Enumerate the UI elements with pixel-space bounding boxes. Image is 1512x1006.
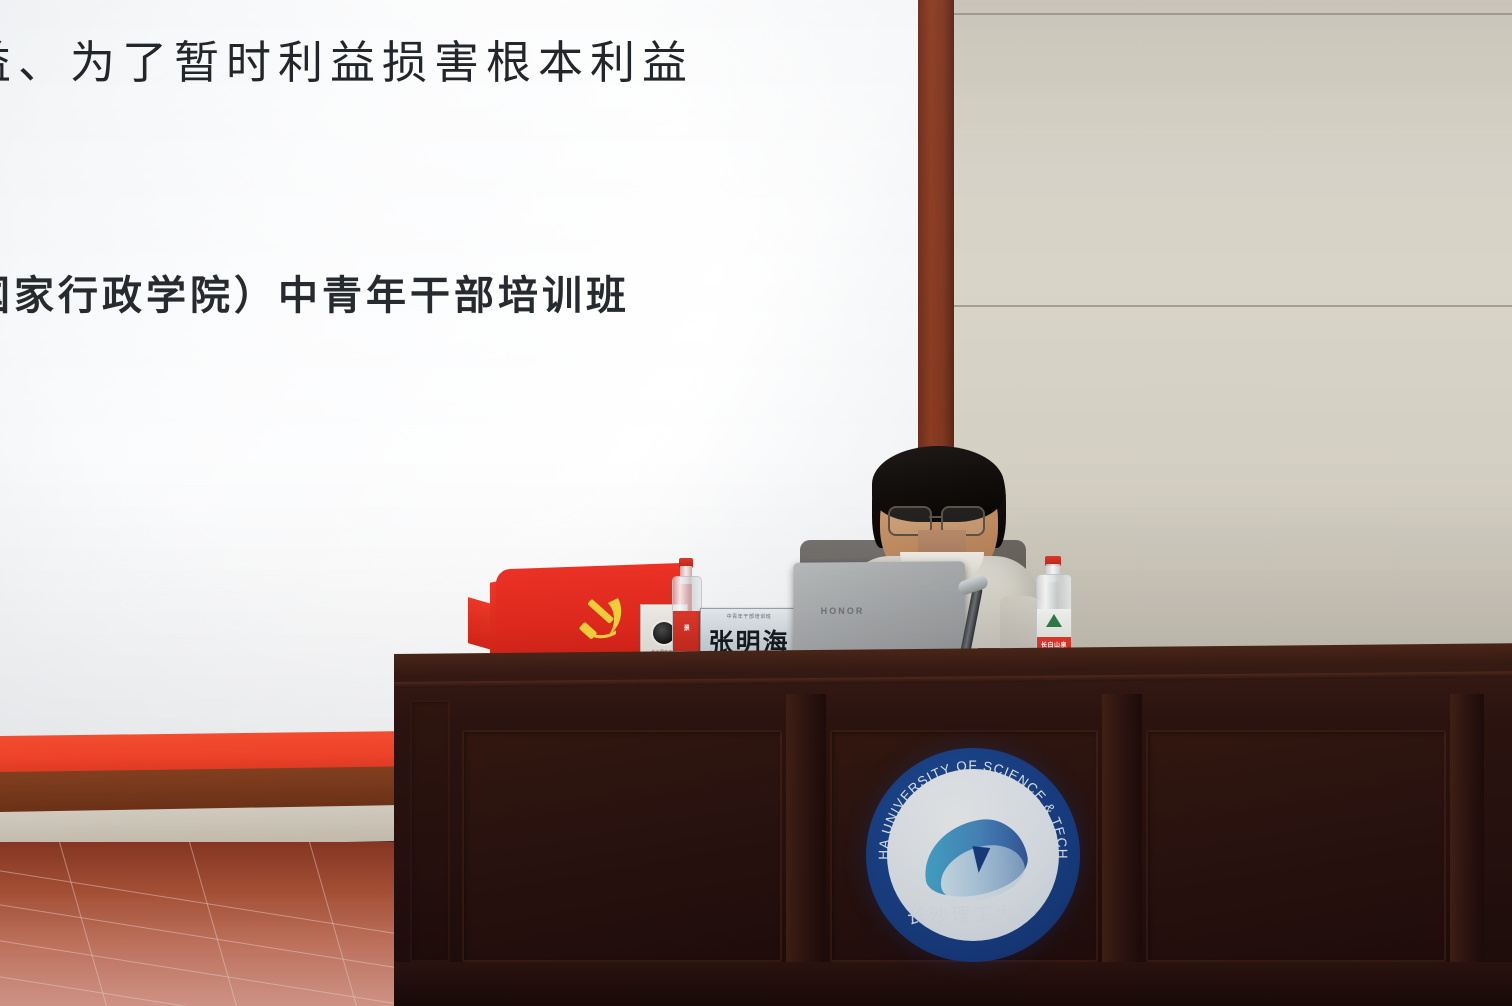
mountain-logo-icon: [1046, 614, 1062, 627]
stage-floor: [0, 842, 400, 1006]
water-bottle-left: 景: [672, 558, 700, 662]
emblem-ring-text: CHANGSHA UNIVERSITY OF SCIENCE & TECHNOL…: [866, 748, 1080, 962]
svg-text:CHANGSHA UNIVERSITY OF SCIENCE: CHANGSHA UNIVERSITY OF SCIENCE & TECHNOL…: [866, 748, 1070, 860]
bottle-label-left-text: 景: [673, 623, 701, 632]
laptop[interactable]: HONOR: [793, 561, 965, 662]
podium-panel-3: [1146, 730, 1446, 962]
slide-text-line-1: 益、为了暂时利益损害根本利益: [0, 26, 786, 91]
podium-divider-1: [786, 694, 826, 970]
laptop-brand-label: HONOR: [821, 606, 865, 616]
podium-panel-1: [462, 730, 782, 962]
photo-scene: 益、为了暂时利益损害根本利益 国家行政学院）中青年干部培训班: [0, 0, 1512, 1006]
nameplate-subtitle: 中青年干部培训班: [701, 613, 797, 620]
podium-divider-2: [1102, 694, 1142, 970]
hammer-and-sickle-icon: [572, 592, 634, 648]
bottle-label-left: 景: [673, 611, 701, 651]
podium-panel-edge: [410, 700, 450, 962]
podium-divider-3: [1450, 694, 1484, 970]
wall-seam-upper: [954, 13, 1512, 15]
emblem-ring-label: CHANGSHA UNIVERSITY OF SCIENCE & TECHNOL…: [866, 748, 1070, 860]
wall-seam-lower: [954, 305, 1512, 307]
podium-base: [394, 962, 1512, 1006]
glasses-bridge: [929, 516, 941, 518]
bottle-label-white-right: [1037, 609, 1071, 637]
university-emblem: CHANGSHA UNIVERSITY OF SCIENCE & TECHNOL…: [866, 748, 1080, 962]
slide-text-line-2: 国家行政学院）中青年干部培训班: [0, 263, 790, 321]
